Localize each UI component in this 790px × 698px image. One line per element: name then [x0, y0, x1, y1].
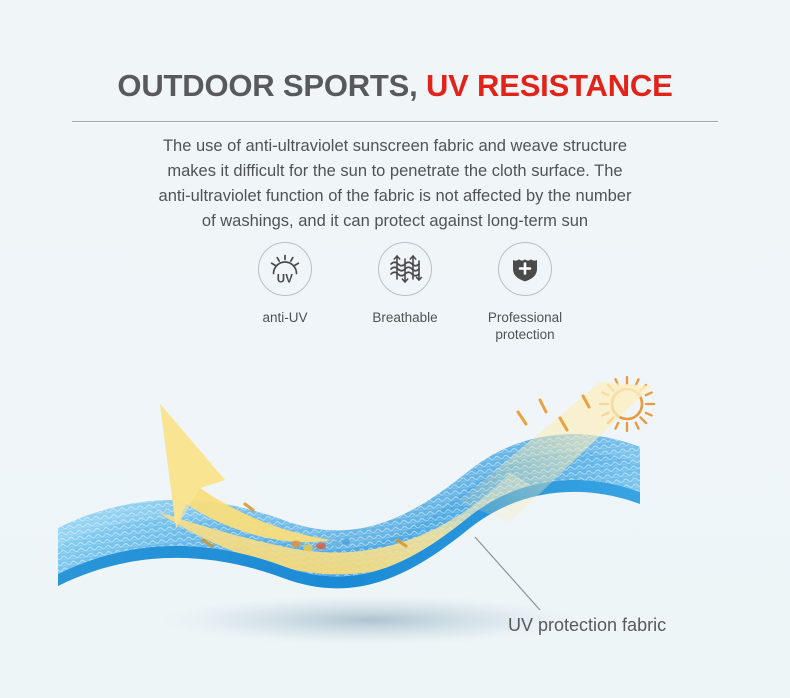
description-line-2: makes it difficult for the sun to penetr… [95, 159, 695, 184]
uv-fabric-sheet [40, 352, 750, 652]
feature-label-professional-line2: protection [495, 327, 554, 342]
feature-item-professional-protection: Professional protection [465, 242, 585, 343]
feature-list: UV anti-UV [228, 242, 588, 352]
description-line-1: The use of anti-ultraviolet sunscreen fa… [95, 134, 695, 159]
feature-label-professional-protection: Professional protection [465, 309, 585, 343]
callout-label-uv-protection-fabric: UV protection fabric [508, 615, 666, 636]
description-line-3: anti-ultraviolet function of the fabric … [95, 184, 695, 209]
feature-label-anti-uv: anti-UV [225, 309, 345, 326]
feature-item-anti-uv: UV anti-UV [225, 242, 345, 326]
page-title: OUTDOOR SPORTS, UV RESISTANCE [0, 68, 790, 104]
description-line-4: of washings, and it can protect against … [95, 209, 695, 234]
title-divider [72, 121, 718, 122]
feature-label-breathable: Breathable [345, 309, 465, 326]
page-title-accent: UV RESISTANCE [426, 68, 673, 103]
page-title-main: OUTDOOR SPORTS, [117, 68, 426, 103]
description-text: The use of anti-ultraviolet sunscreen fa… [95, 134, 695, 234]
shield-plus-icon [498, 242, 552, 296]
svg-text:UV: UV [277, 274, 294, 286]
fabric-mesh-texture [40, 412, 750, 612]
breathable-airflow-icon [378, 242, 432, 296]
feature-label-professional-line1: Professional [488, 310, 562, 325]
uv-resistance-banner: OUTDOOR SPORTS, UV RESISTANCE The use of… [0, 0, 790, 698]
feature-item-breathable: Breathable [345, 242, 465, 326]
anti-uv-sun-icon: UV [258, 242, 312, 296]
